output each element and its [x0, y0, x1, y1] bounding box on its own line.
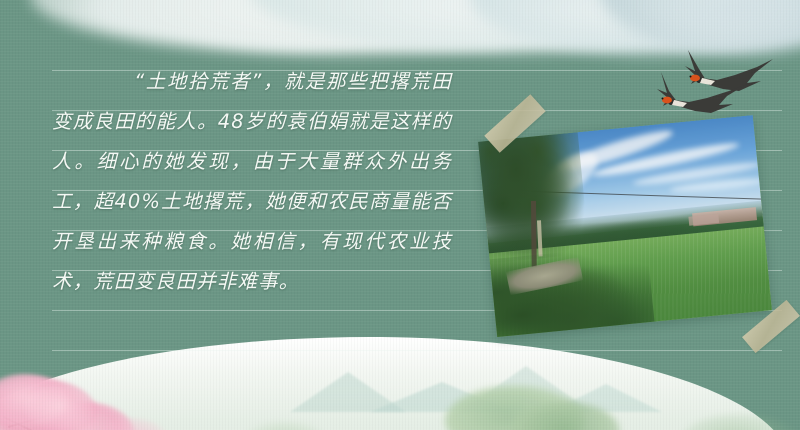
- photo-image: [478, 115, 772, 337]
- photo-vignette: [478, 115, 772, 337]
- rule-line: [52, 350, 782, 351]
- article-body: “土地拾荒者”，就是那些把撂荒田变成良田的能人。48岁的袁伯娟就是这样的人。细心…: [52, 62, 452, 302]
- barn-swallows: [655, 45, 790, 125]
- rice-field-photo[interactable]: [478, 115, 772, 337]
- poster-canvas: “土地拾荒者”，就是那些把撂荒田变成良田的能人。48岁的袁伯娟就是这样的人。细心…: [0, 0, 800, 430]
- swallow-pair-icon: [655, 45, 790, 125]
- swallow-icon-upper: [685, 50, 773, 91]
